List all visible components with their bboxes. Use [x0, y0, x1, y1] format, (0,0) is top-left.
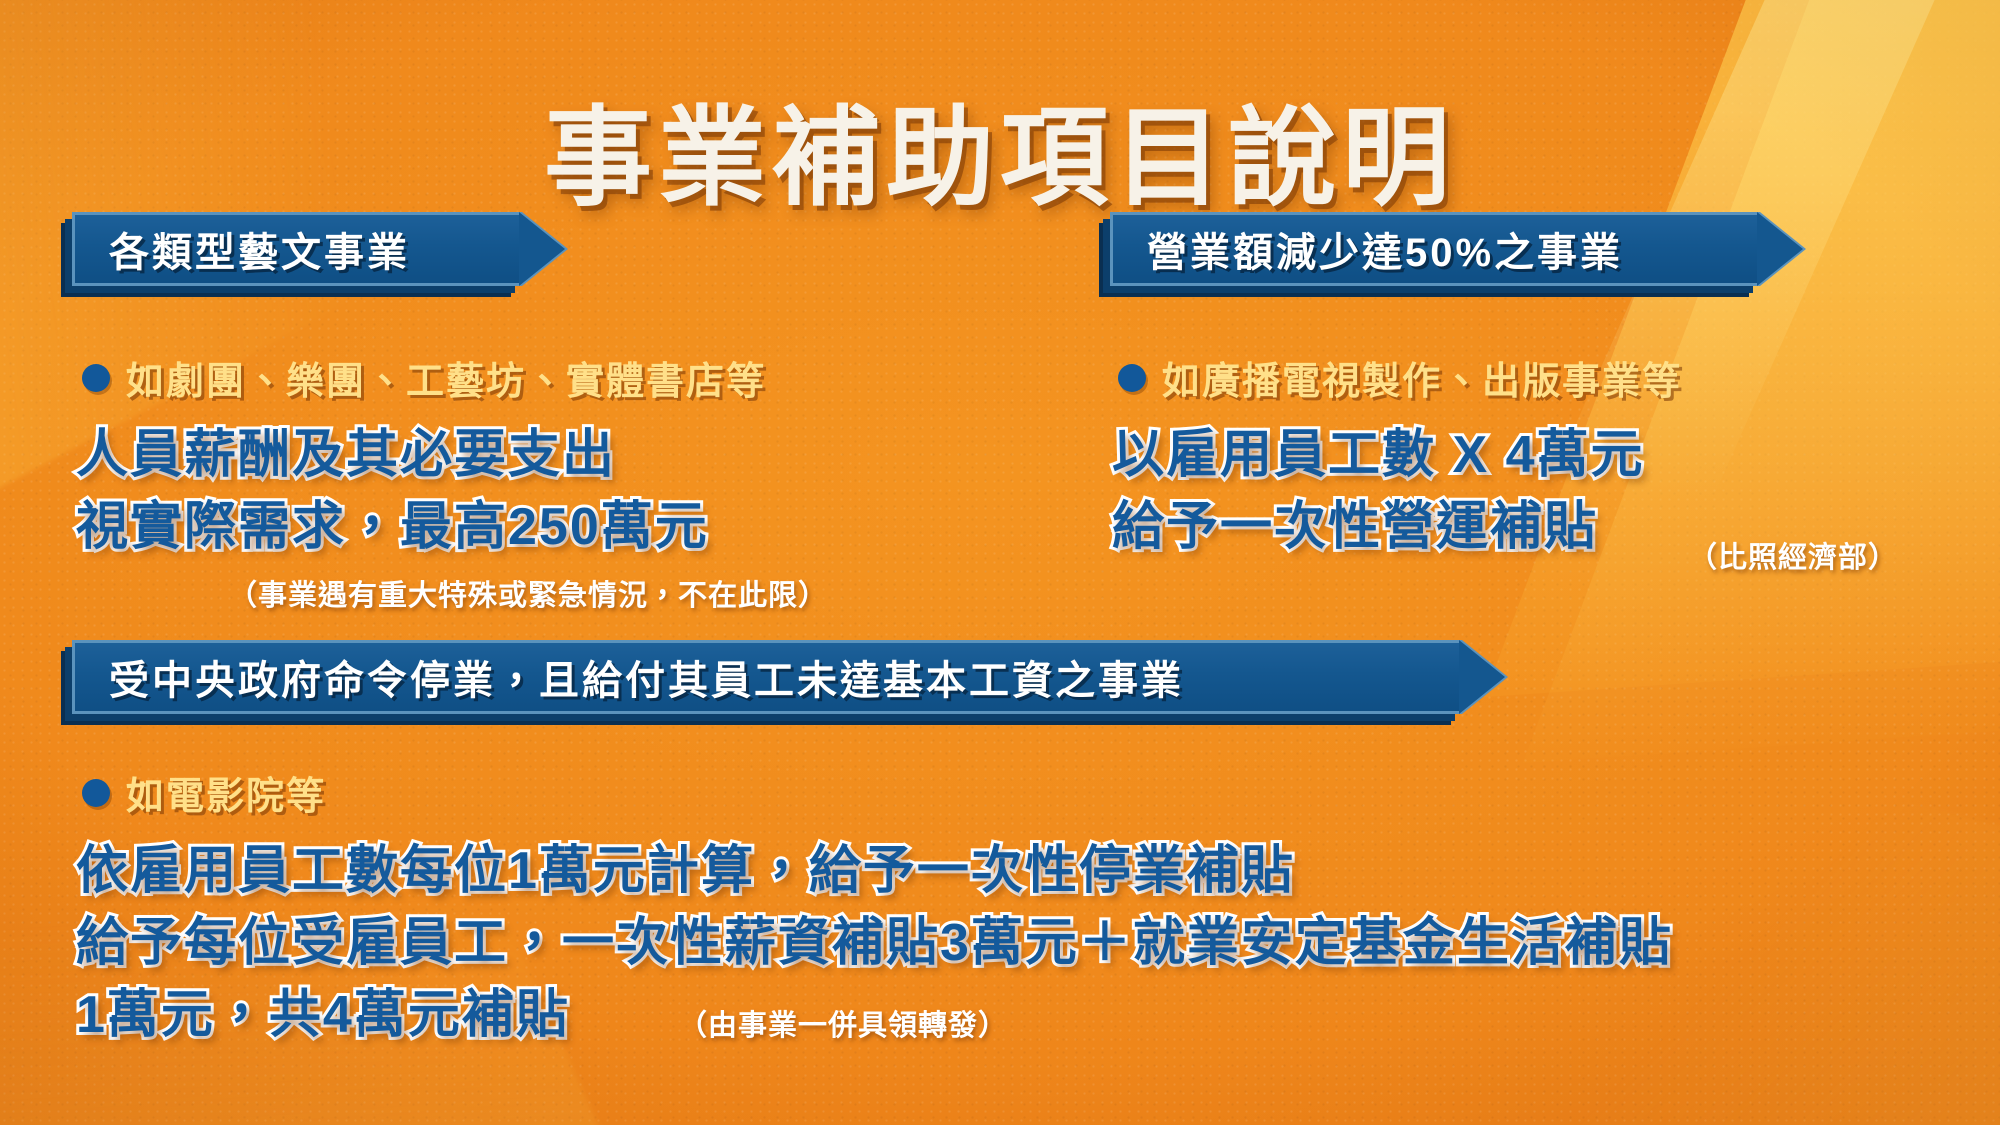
body-line-closure-2: 給予每位受雇員工，一次性薪資補貼3萬元＋就業安定基金生活補貼 — [76, 900, 1673, 975]
bullet-row-government-ordered-closure: 如電影院等 — [82, 765, 326, 820]
section-banner-revenue-drop-50: 營業額減少達50%之事業 — [1110, 212, 1760, 286]
body-line-arts-1: 人員薪酬及其必要支出 — [76, 412, 616, 487]
bullet-label: 如廣播電視製作、出版事業等 — [1162, 350, 1682, 405]
bullet-dot-icon — [1118, 364, 1146, 392]
section-banner-label: 受中央政府命令停業，且給付其員工未達基本工資之事業 — [109, 648, 1184, 706]
bullet-label: 如劇團、樂團、工藝坊、實體書店等 — [126, 350, 766, 405]
poster-canvas: 事業補助項目說明 各類型藝文事業 如劇團、樂團、工藝坊、實體書店等 人員薪酬及其… — [0, 0, 2000, 1125]
body-line-arts-2: 視實際需求，最高250萬元 — [76, 484, 709, 559]
body-line-revenue-1: 以雇用員工數 X 4萬元 — [1112, 412, 1645, 487]
body-line-closure-3: 1萬元，共4萬元補貼 — [76, 972, 570, 1047]
bullet-row-arts-enterprises: 如劇團、樂團、工藝坊、實體書店等 — [82, 350, 766, 405]
footnote-revenue: （比照經濟部） — [1688, 534, 1898, 576]
bullet-dot-icon — [82, 779, 110, 807]
body-line-revenue-2: 給予一次性營運補貼 — [1112, 484, 1598, 559]
footnote-closure: （由事業一併具領轉發） — [678, 1002, 1008, 1044]
bullet-row-revenue-drop-50: 如廣播電視製作、出版事業等 — [1118, 350, 1682, 405]
page-title: 事業補助項目說明 — [0, 98, 2000, 219]
section-banner-arts-enterprises: 各類型藝文事業 — [72, 212, 522, 286]
bullet-dot-icon — [82, 364, 110, 392]
section-banner-label: 各類型藝文事業 — [109, 220, 410, 278]
footnote-arts: （事業遇有重大特殊或緊急情況，不在此限） — [228, 572, 828, 614]
body-line-closure-1: 依雇用員工數每位1萬元計算，給予一次性停業補貼 — [76, 828, 1295, 903]
bullet-label: 如電影院等 — [126, 765, 326, 820]
section-banner-label: 營業額減少達50%之事業 — [1147, 220, 1623, 278]
section-banner-government-ordered-closure: 受中央政府命令停業，且給付其員工未達基本工資之事業 — [72, 640, 1462, 714]
